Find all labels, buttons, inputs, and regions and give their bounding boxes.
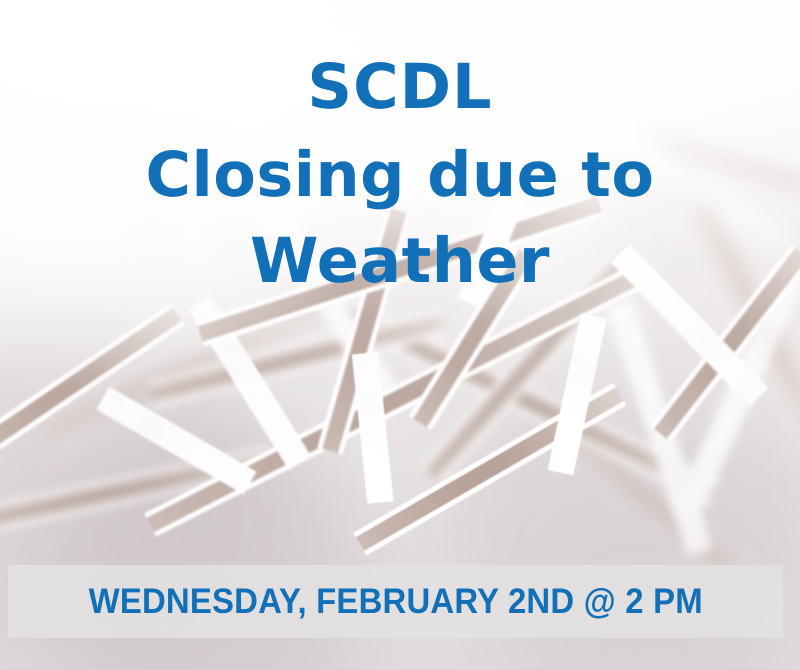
frosted-twig <box>362 353 383 503</box>
date-banner: WEDNESDAY, FEBRUARY 2ND @ 2 PM <box>8 565 783 638</box>
frosted-twig <box>558 315 596 473</box>
twig-frost <box>351 352 393 504</box>
closing-announcement-poster: SCDL Closing due to Weather WEDNESDAY, F… <box>0 0 800 670</box>
date-banner-text: WEDNESDAY, FEBRUARY 2ND @ 2 PM <box>88 582 702 622</box>
